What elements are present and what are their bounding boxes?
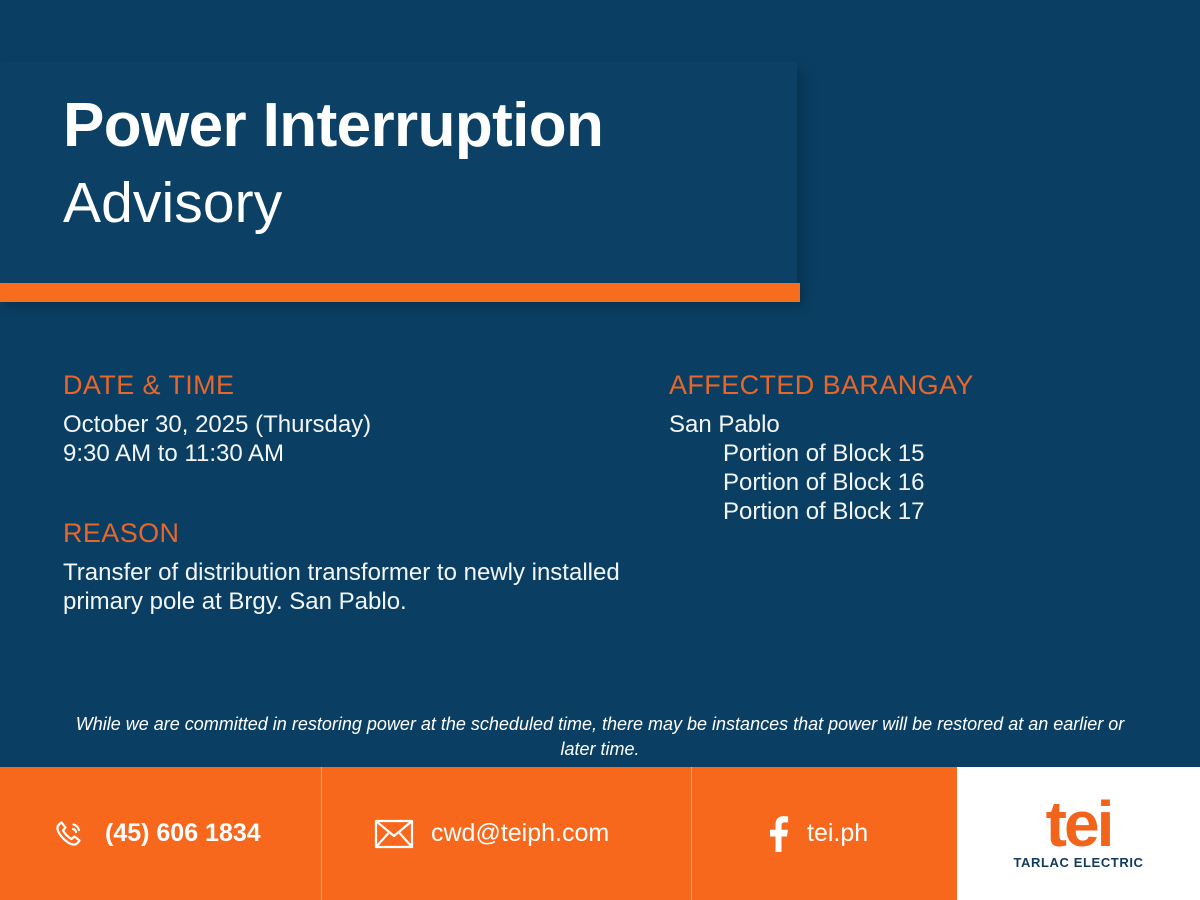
power-interruption-advisory-poster: Power Interruption Advisory DATE & TIME …: [0, 0, 1200, 900]
barangay-heading: AFFECTED BARANGAY: [669, 370, 1169, 401]
footer-phone[interactable]: (45) 606 1834: [0, 767, 321, 900]
facebook-handle: tei.ph: [807, 819, 868, 848]
reason-heading: REASON: [63, 518, 623, 549]
footer-email[interactable]: cwd@teiph.com: [321, 767, 691, 900]
list-item: Portion of Block 15: [723, 439, 1169, 468]
datetime-date: October 30, 2025 (Thursday): [63, 410, 623, 439]
logo-wordmark: tei: [1046, 797, 1112, 851]
phone-icon: [50, 815, 88, 853]
tei-logo: tei TARLAC ELECTRIC: [957, 767, 1200, 900]
datetime-heading: DATE & TIME: [63, 370, 623, 401]
reason-text: Transfer of distribution transformer to …: [63, 558, 623, 616]
datetime-group: DATE & TIME October 30, 2025 (Thursday) …: [63, 370, 623, 468]
list-item: Portion of Block 16: [723, 468, 1169, 497]
barangay-name: San Pablo: [669, 410, 1169, 439]
details-right-column: AFFECTED BARANGAY San Pablo Portion of B…: [669, 370, 1169, 526]
email-address: cwd@teiph.com: [431, 819, 609, 848]
list-item: Portion of Block 17: [723, 497, 1169, 526]
reason-group: REASON Transfer of distribution transfor…: [63, 518, 623, 616]
affected-area-list: Portion of Block 15 Portion of Block 16 …: [669, 439, 1169, 526]
title-panel: Power Interruption Advisory: [0, 62, 797, 283]
phone-number: (45) 606 1834: [105, 819, 261, 848]
details-left-column: DATE & TIME October 30, 2025 (Thursday) …: [63, 370, 623, 616]
page-subtitle: Advisory: [63, 175, 282, 232]
disclaimer-text: While we are committed in restoring powe…: [70, 712, 1130, 762]
page-title: Power Interruption: [63, 95, 603, 157]
footer-facebook[interactable]: tei.ph: [691, 767, 957, 900]
title-accent-bar: [0, 283, 800, 302]
envelope-icon: [374, 818, 414, 850]
logo-tagline: TARLAC ELECTRIC: [1013, 855, 1143, 870]
facebook-icon: [766, 816, 790, 852]
datetime-time: 9:30 AM to 11:30 AM: [63, 439, 623, 468]
